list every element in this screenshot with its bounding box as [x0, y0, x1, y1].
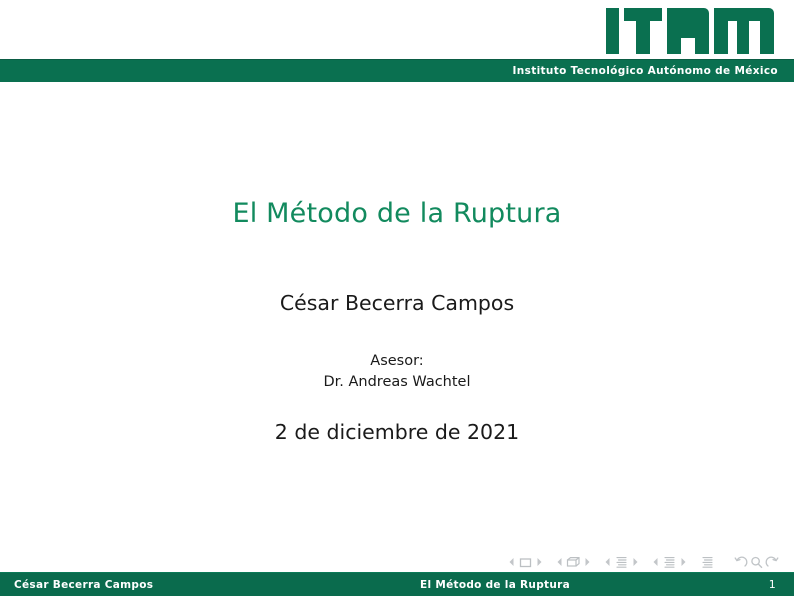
next-section-icon[interactable] [679, 555, 688, 569]
back-arrow-icon[interactable] [733, 555, 748, 570]
slide-header: Instituto Tecnológico Autónomo de México [0, 0, 794, 82]
nav-group-frame[interactable] [555, 555, 592, 570]
forward-arrow-icon[interactable] [765, 555, 780, 570]
prev-subsection-icon[interactable] [603, 555, 612, 569]
nav-group-slide[interactable] [507, 555, 544, 570]
footer-author: César Becerra Campos [0, 573, 330, 596]
next-slide-icon[interactable] [535, 555, 544, 569]
slide-body: El Método de la Ruptura César Becerra Ca… [0, 82, 794, 548]
slide-canvas: Instituto Tecnológico Autónomo de México… [0, 0, 794, 596]
advisor-label: Asesor: [0, 351, 794, 372]
beamer-navigation-bar[interactable] [507, 552, 780, 572]
author-name: César Becerra Campos [0, 291, 794, 315]
slide-footer: César Becerra Campos El Método de la Rup… [0, 572, 794, 596]
prev-frame-icon[interactable] [555, 555, 564, 569]
advisor-name: Dr. Andreas Wachtel [0, 372, 794, 393]
search-icon[interactable] [749, 555, 764, 570]
next-subsection-icon[interactable] [631, 555, 640, 569]
next-frame-icon[interactable] [583, 555, 592, 569]
advisor-block: Asesor: Dr. Andreas Wachtel [0, 351, 794, 393]
presentation-date: 2 de diciembre de 2021 [0, 420, 794, 444]
itam-logo [604, 6, 776, 56]
frames-stack-icon[interactable] [565, 555, 582, 570]
prev-section-icon[interactable] [651, 555, 660, 569]
nav-group-section[interactable] [651, 555, 688, 570]
section-icon[interactable] [661, 555, 678, 570]
footer-title: El Método de la Ruptura [330, 573, 660, 596]
presentation-title: El Método de la Ruptura [0, 198, 794, 229]
document-icon[interactable] [699, 555, 716, 570]
nav-group-document[interactable] [699, 555, 716, 570]
institution-name: Instituto Tecnológico Autónomo de México [513, 60, 778, 82]
header-green-bar: Instituto Tecnológico Autónomo de México [0, 59, 794, 82]
nav-group-subsection[interactable] [603, 555, 640, 570]
nav-group-history[interactable] [733, 555, 780, 570]
footer-page-number: 1 [660, 573, 794, 596]
prev-slide-icon[interactable] [507, 555, 516, 569]
subsection-icon[interactable] [613, 555, 630, 570]
frame-icon[interactable] [517, 555, 534, 570]
